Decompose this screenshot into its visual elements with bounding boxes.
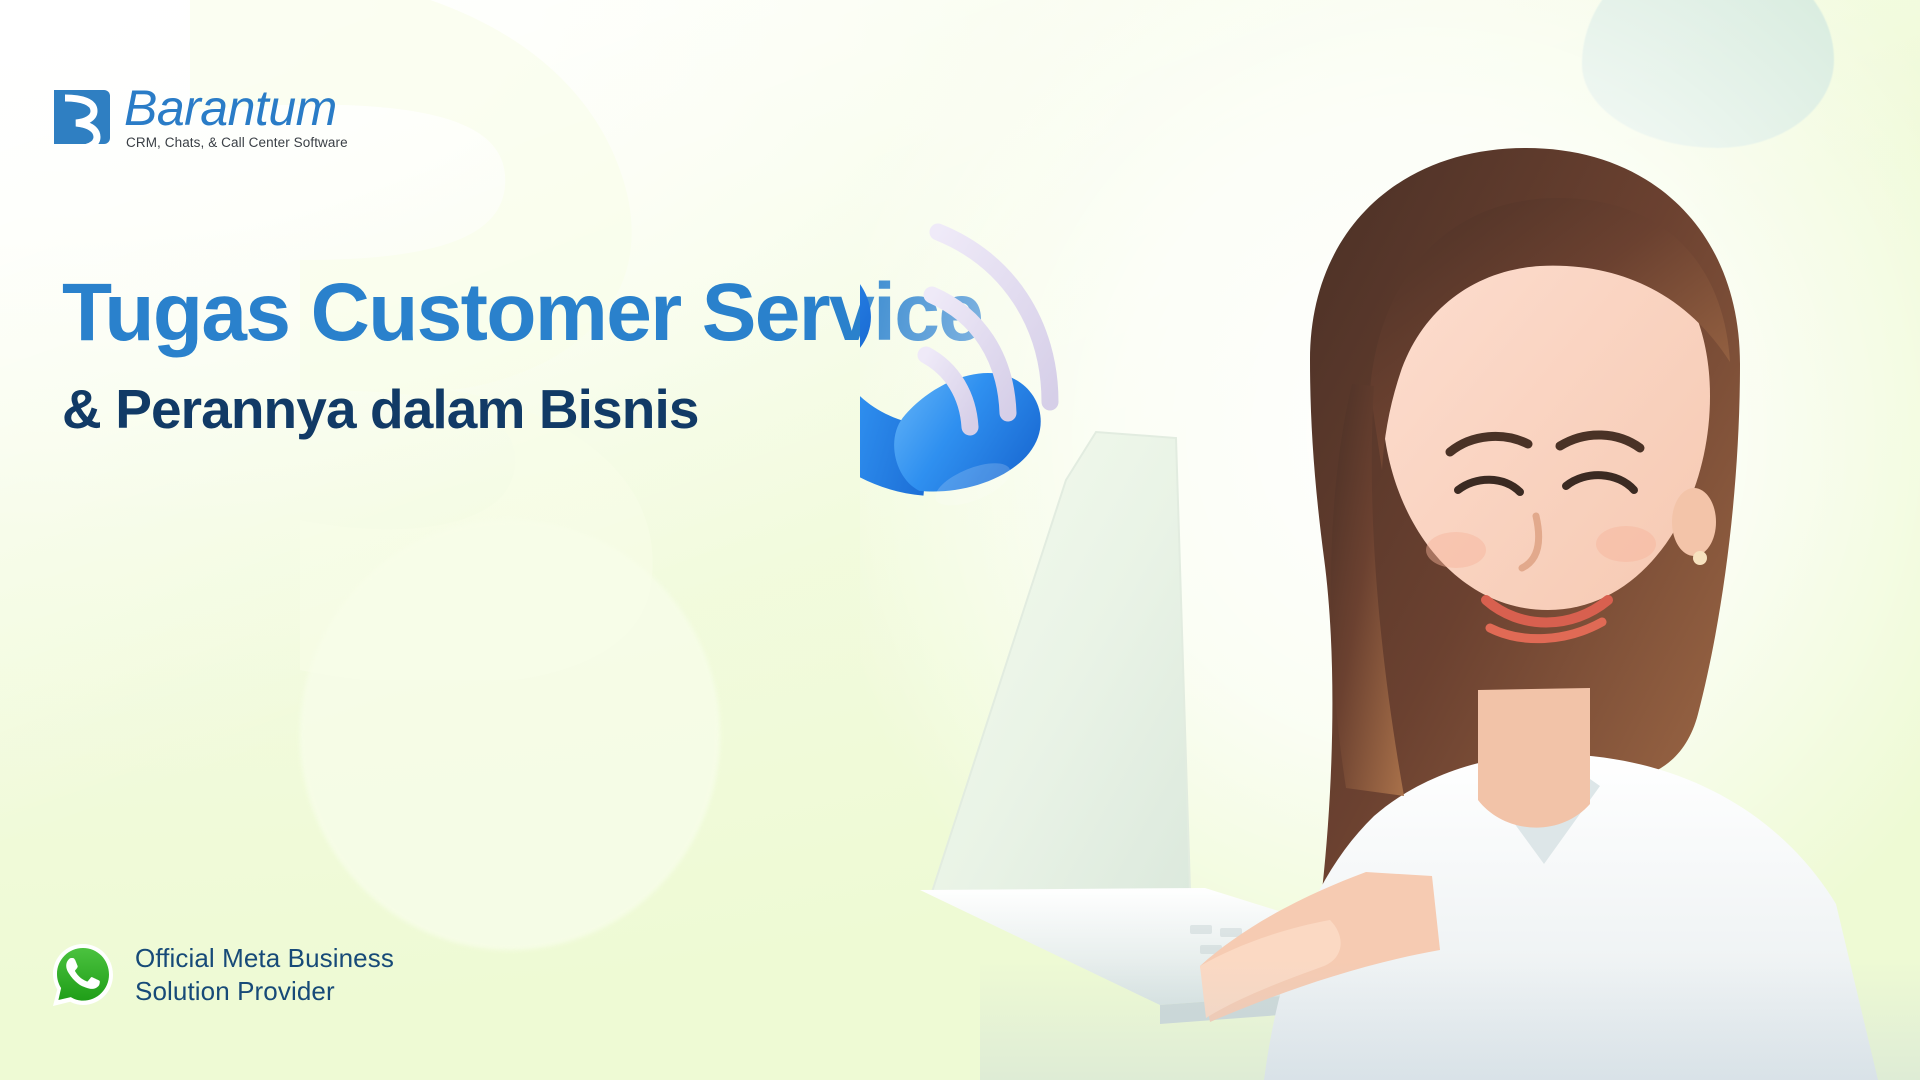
customer-service-agent-photo	[1160, 130, 1920, 1080]
logo-tagline: CRM, Chats, & Call Center Software	[124, 135, 348, 150]
illustration-stage	[860, 0, 1920, 1080]
whatsapp-icon	[50, 942, 116, 1008]
logo-wordmark: Barantum	[124, 82, 348, 134]
meta-solution-provider-badge[interactable]: Official Meta Business Solution Provider	[50, 942, 394, 1008]
desk-shadow	[980, 960, 1920, 1080]
meta-badge-text: Official Meta Business Solution Provider	[135, 942, 394, 1008]
brand-logo[interactable]: Barantum CRM, Chats, & Call Center Softw…	[52, 78, 348, 150]
barantum-b-logo-icon	[52, 78, 112, 150]
ringing-phone-handset-3d-icon	[860, 150, 1080, 570]
background-blob-pale	[300, 520, 720, 950]
meta-badge-line-1: Official Meta Business	[135, 942, 394, 975]
hero-banner: Barantum CRM, Chats, & Call Center Softw…	[0, 0, 1920, 1080]
meta-badge-line-2: Solution Provider	[135, 975, 394, 1008]
